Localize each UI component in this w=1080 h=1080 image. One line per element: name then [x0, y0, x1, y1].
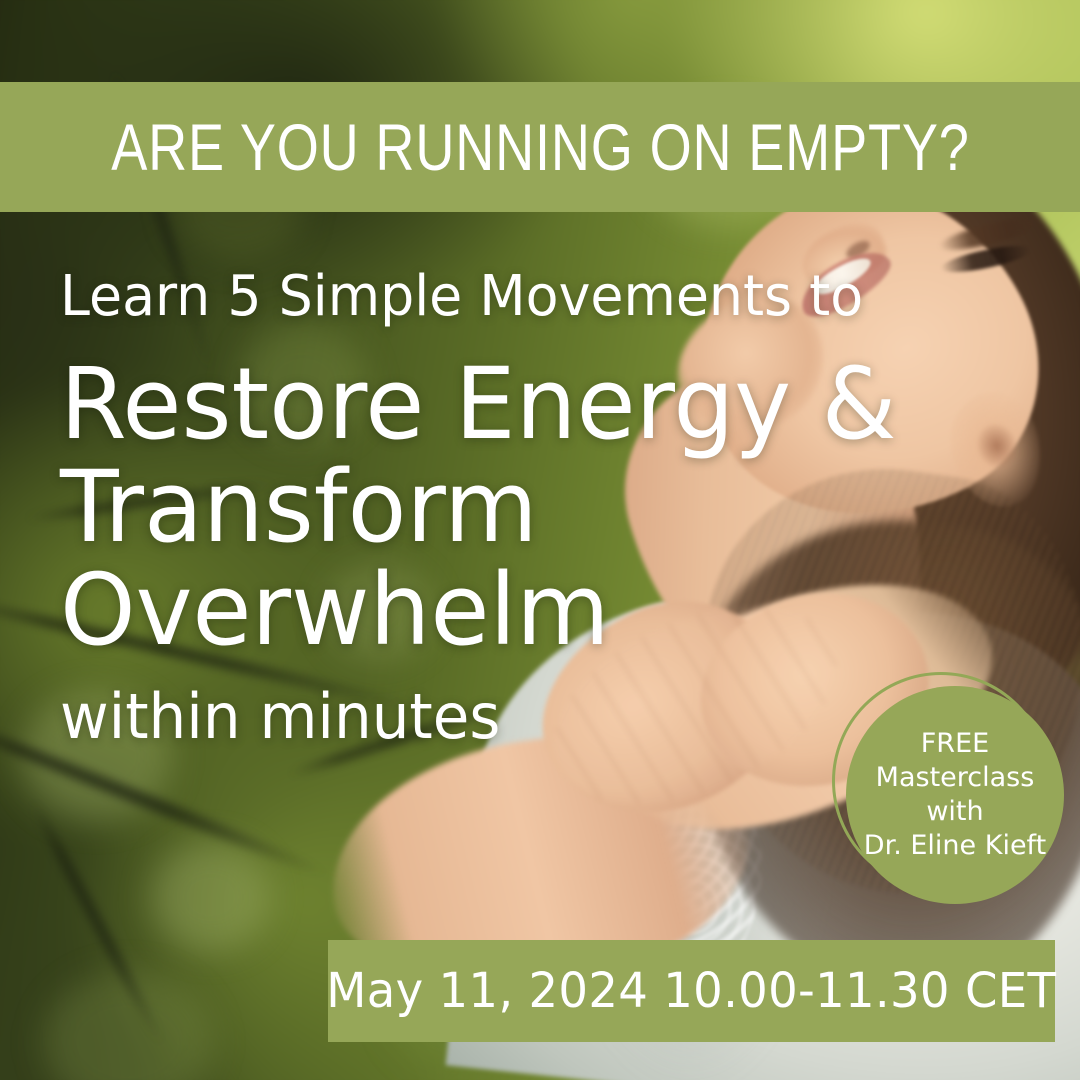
headline-line-3: Overwhelm — [60, 554, 836, 669]
headline-line-2: Transform — [60, 451, 836, 566]
header-banner: ARE YOU RUNNING ON EMPTY? — [0, 82, 1080, 212]
copy-kicker: Learn 5 Simple Movements to — [60, 268, 828, 326]
badge-line-2: Masterclass — [864, 761, 1046, 795]
badge-disc: FREE Masterclass with Dr. Eline Kieft — [846, 686, 1064, 904]
copy-tail: within minutes — [60, 685, 828, 749]
free-masterclass-badge: FREE Masterclass with Dr. Eline Kieft — [832, 672, 1064, 904]
badge-line-1: FREE — [864, 727, 1046, 761]
headline-line-1: Restore Energy & — [60, 347, 897, 462]
date-banner-text: May 11, 2024 10.00-11.30 CET — [327, 967, 1057, 1015]
header-banner-text: ARE YOU RUNNING ON EMPTY? — [111, 114, 969, 180]
date-banner: May 11, 2024 10.00-11.30 CET — [328, 940, 1055, 1042]
promo-poster: ARE YOU RUNNING ON EMPTY? Learn 5 Simple… — [0, 0, 1080, 1080]
main-copy-block: Learn 5 Simple Movements to Restore Ener… — [60, 268, 860, 749]
copy-headline: Restore Energy & Transform Overwhelm — [60, 348, 836, 668]
badge-line-4: Dr. Eline Kieft — [864, 829, 1046, 863]
badge-line-3: with — [864, 795, 1046, 829]
badge-text: FREE Masterclass with Dr. Eline Kieft — [854, 727, 1056, 863]
